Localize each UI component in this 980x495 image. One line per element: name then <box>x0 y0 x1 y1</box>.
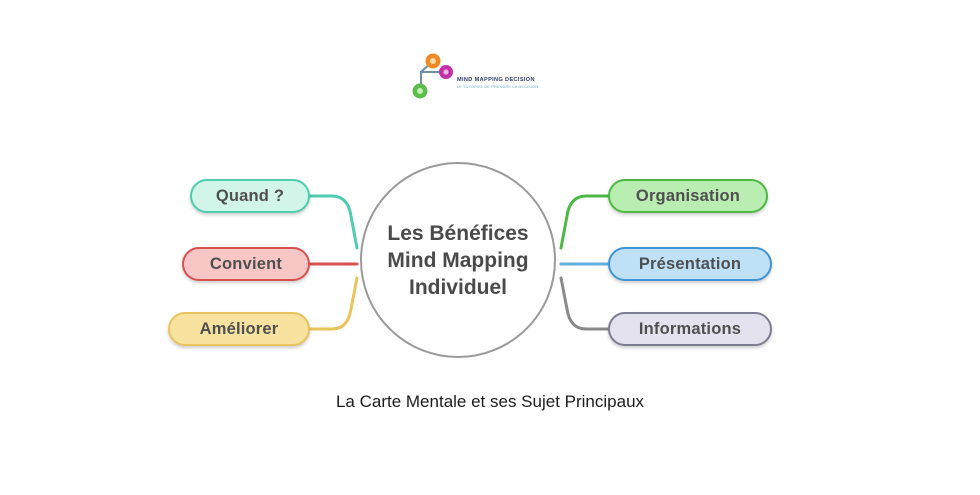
branch-label-presentation: Présentation <box>639 255 741 274</box>
branch-node-convient[interactable]: Convient <box>182 247 310 281</box>
connector-ameliorer <box>310 278 357 329</box>
connector-quand <box>310 196 357 248</box>
central-node-label: Les Bénéfices Mind Mapping Individuel <box>387 220 528 301</box>
branch-node-ameliorer[interactable]: Améliorer <box>168 312 310 346</box>
branch-node-organisation[interactable]: Organisation <box>608 179 768 213</box>
branch-node-informations[interactable]: Informations <box>608 312 772 346</box>
branch-label-organisation: Organisation <box>636 187 740 206</box>
central-node[interactable]: Les Bénéfices Mind Mapping Individuel <box>360 162 556 358</box>
branch-label-informations: Informations <box>639 320 741 339</box>
connector-informations <box>561 278 608 329</box>
branch-node-quand[interactable]: Quand ? <box>190 179 310 213</box>
branch-node-presentation[interactable]: Présentation <box>608 247 772 281</box>
diagram-caption: La Carte Mentale et ses Sujet Principaux <box>0 392 980 412</box>
branch-label-quand: Quand ? <box>216 187 284 206</box>
connector-organisation <box>561 196 608 248</box>
branch-label-ameliorer: Améliorer <box>200 320 279 339</box>
mind-map-diagram: Les Bénéfices Mind Mapping Individuel Qu… <box>0 0 980 495</box>
branch-label-convient: Convient <box>210 255 282 274</box>
